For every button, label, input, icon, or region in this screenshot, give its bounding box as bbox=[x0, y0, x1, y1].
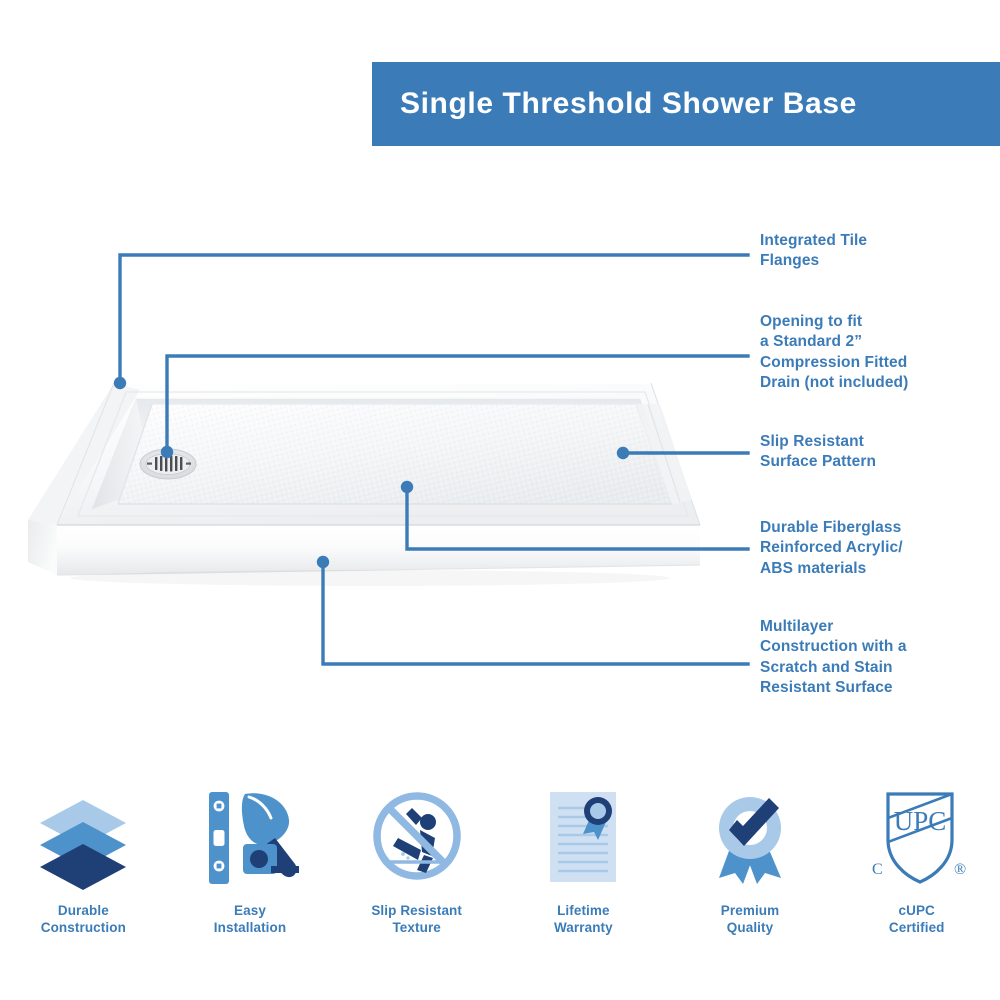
drain-grate bbox=[140, 449, 196, 479]
no-slip-icon bbox=[362, 778, 472, 896]
feature-durable-construction: Durable Construction bbox=[0, 778, 167, 937]
feature-label: cUPC Certified bbox=[889, 902, 945, 937]
upc-text: UPC bbox=[893, 806, 946, 836]
upc-c-mark: C bbox=[872, 861, 883, 878]
feature-premium-quality: Premium Quality bbox=[667, 778, 834, 937]
callout-label-durable-materials: Durable Fiberglass Reinforced Acrylic/ A… bbox=[760, 518, 903, 579]
feature-label: Durable Construction bbox=[41, 902, 126, 937]
callout-label-drain-opening: Opening to fit a Standard 2” Compression… bbox=[760, 312, 908, 394]
level-trowel-icon bbox=[195, 778, 305, 896]
upc-shield-icon: UPC C ® bbox=[862, 778, 972, 896]
upc-registered-mark: ® bbox=[954, 861, 966, 878]
infographic-canvas: Single Threshold Shower Base Integrated … bbox=[0, 0, 1000, 1000]
callout-label-slip-resistant-surface: Slip Resistant Surface Pattern bbox=[760, 432, 876, 473]
layers-icon bbox=[28, 778, 138, 896]
page-title: Single Threshold Shower Base bbox=[372, 87, 857, 121]
feature-badges-row: Durable Construction bbox=[0, 778, 1000, 974]
feature-easy-installation: Easy Installation bbox=[167, 778, 334, 937]
feature-label: Slip Resistant Texture bbox=[371, 902, 462, 937]
ribbon-check-icon bbox=[695, 778, 805, 896]
title-bar: Single Threshold Shower Base bbox=[372, 62, 1000, 146]
feature-label: Easy Installation bbox=[214, 902, 286, 937]
feature-slip-resistant-texture: Slip Resistant Texture bbox=[333, 778, 500, 937]
feature-lifetime-warranty: Lifetime Warranty bbox=[500, 778, 667, 937]
feature-label: Lifetime Warranty bbox=[554, 902, 613, 937]
callout-label-integrated-tile-flanges: Integrated Tile Flanges bbox=[760, 231, 867, 272]
feature-cupc-certified: UPC C ® cUPC Certified bbox=[833, 778, 1000, 937]
callout-label-multilayer-construction: Multilayer Construction with a Scratch a… bbox=[760, 617, 907, 699]
warranty-document-icon bbox=[528, 778, 638, 896]
feature-label: Premium Quality bbox=[721, 902, 779, 937]
